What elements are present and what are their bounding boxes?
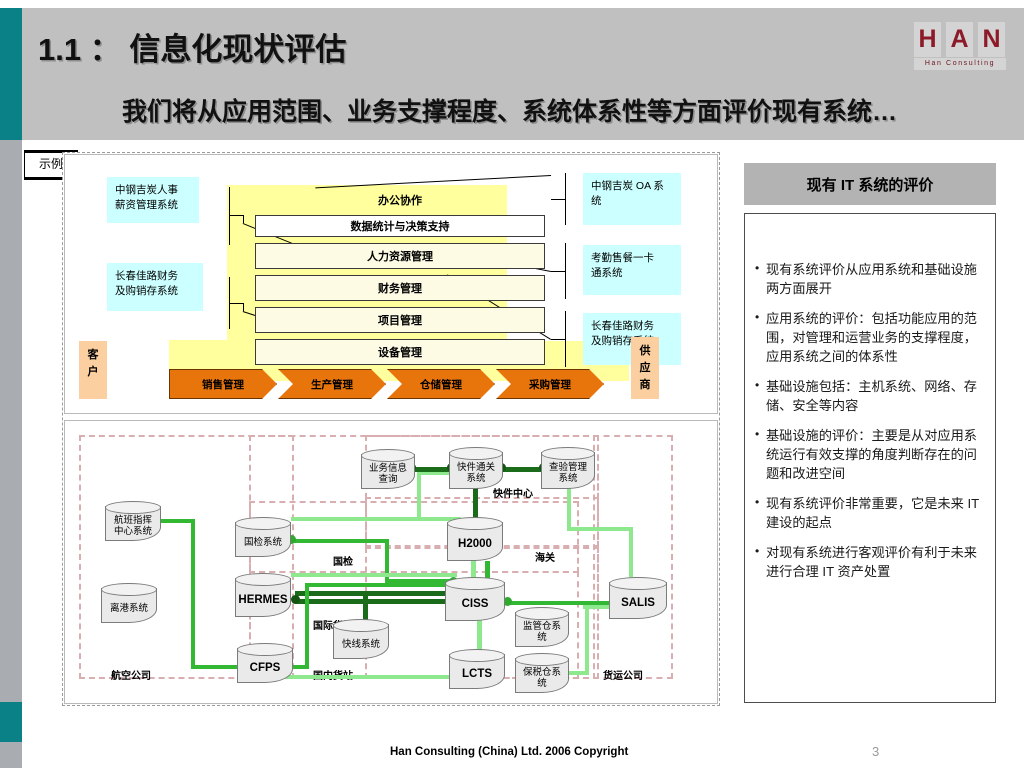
page-subtitle: 我们将从应用范围、业务支撑程度、系统体系性等方面评价现有系统…: [122, 92, 897, 128]
bottom-network-diagram: 航空公司 国检 国际货站 国内货站 快件中心 海关 物流园 货运公司: [64, 420, 718, 704]
left-rail-gray-lower: [0, 742, 22, 768]
node-kuaijian-tongguan: 快件通关 系统: [449, 447, 503, 489]
link-hermes-light: [291, 573, 457, 577]
leader-tick-left-2: [229, 303, 243, 304]
bullet-item: 现有系统评价从应用系统和基础设施两方面展开: [755, 260, 985, 298]
link-guojian-light-riser: [417, 473, 421, 521]
node-jianguan-cang: 监管仓系 统: [515, 607, 569, 647]
page-number: 3: [872, 744, 879, 759]
logo-tagline: Han Consulting: [914, 58, 1006, 70]
dot-hermes-right: [291, 595, 300, 604]
system-box-oa: 中钢吉炭 OA 系 统: [583, 173, 681, 225]
node-cfps: CFPS: [237, 643, 293, 683]
bullet-item: 基础设施的评价：主要是从对应用系统运行有效支撑的角度判断存在的问题和改进空间: [755, 426, 985, 483]
node-chayan-guanli: 查验管理 系统: [541, 447, 595, 489]
link-guojian-light: [291, 517, 461, 521]
system-box-attendance-card: 考勤售餐一卡 通系统: [583, 245, 681, 295]
link-cfps-riser: [305, 585, 309, 669]
link-salis-riser: [629, 527, 633, 577]
band-title-office-collab: 办公协作: [255, 193, 545, 209]
leader-tick-right-2: [551, 271, 566, 272]
node-hangban-command: 航班指挥 中心系统: [105, 501, 161, 541]
system-box-finance-inventory-left: 长春佳路财务 及购销存系统: [107, 263, 203, 311]
bullet-item: 应用系统的评价：包括功能应用的范围，对管理和运营业务的支撑程度，应用系统之间的体…: [755, 309, 985, 366]
function-box-project: 项目管理: [255, 307, 545, 333]
node-yewu-xinxi-chaxun: 业务信息 查询: [361, 449, 415, 489]
bullet-item: 基础设施包括：主机系统、网络、存储、安全等内容: [755, 377, 985, 415]
link-cfps-top: [305, 583, 453, 587]
process-chevron-sales: 销售管理: [169, 369, 277, 399]
slide-root: 1.1 ： 信息化现状评估 我们将从应用范围、业务支撑程度、系统体系性等方面评价…: [0, 0, 1024, 768]
function-box-hr: 人力资源管理: [255, 243, 545, 269]
link-chayan-horizontal: [567, 527, 633, 531]
link-cfps-horizontal: [191, 665, 241, 669]
link-hermes-ciss-dark: [295, 599, 455, 604]
leader-tick-right-3: [551, 339, 566, 340]
right-panel-body: 现有系统评价从应用系统和基础设施两方面展开 应用系统的评价：包括功能应用的范围，…: [744, 213, 996, 703]
endpoint-supplier: 供 应 商: [631, 337, 659, 399]
node-guojian: 国检系统: [235, 517, 291, 557]
function-box-data-stats: 数据统计与决策支持: [255, 215, 545, 237]
logo-letter-h: H: [914, 22, 941, 57]
page-title: 1.1 ： 信息化现状评估: [38, 24, 346, 69]
leader-vertical-left-1: [229, 187, 230, 245]
bullet-item: 现有系统评价非常重要，它是未来 IT 建设的起点: [755, 494, 985, 532]
endpoint-customer: 客 户: [79, 341, 107, 399]
top-architecture-diagram: 中钢吉炭人事 薪资管理系统 长春佳路财务 及购销存系统 中钢吉炭 OA 系 统 …: [64, 154, 718, 414]
zone-label-customs: 海关: [535, 549, 555, 564]
header-teal-accent: [0, 8, 22, 140]
node-baoshui-cang: 保税仓系 统: [515, 653, 569, 693]
bullet-item: 对现有系统进行客观评价有利于未来进行合理 IT 资产处置: [755, 543, 985, 581]
footer-copyright: Han Consulting (China) Ltd. 2006 Copyrig…: [390, 746, 628, 758]
han-consulting-logo: H A N Han Consulting: [914, 22, 1006, 70]
right-panel-heading: 现有 IT 系统的评价: [744, 163, 996, 205]
leader-elbow-1: [243, 215, 244, 223]
system-box-hr-payroll: 中钢吉炭人事 薪资管理系统: [107, 177, 199, 223]
leader-elbow-2: [243, 303, 244, 311]
process-chevron-production: 生产管理: [278, 369, 386, 399]
node-h2000: H2000: [447, 517, 503, 561]
node-salis: SALIS: [609, 577, 667, 619]
node-ciss: CISS: [445, 577, 505, 621]
leader-tick-left-1: [229, 215, 243, 216]
zone-label-airline: 航空公司: [111, 667, 151, 682]
node-kuaixian: 快线系统: [333, 619, 389, 659]
link-hermes-ciss-dark2: [295, 591, 455, 596]
process-chevron-warehouse: 仓储管理: [387, 369, 495, 399]
link-guojian-ciss-1: [291, 539, 387, 543]
link-chayan-riser: [567, 483, 571, 529]
leader-tick-right-1: [551, 199, 566, 200]
left-rail-gray-upper: [0, 140, 22, 702]
zone-freight-company: [593, 435, 673, 679]
link-lcts-salis-riser: [585, 607, 589, 673]
left-rail-teal-lower: [0, 702, 22, 742]
zone-label-inspection: 国检: [333, 553, 353, 568]
link-hangban-cfps-vertical: [191, 521, 195, 669]
node-lcts: LCTS: [449, 649, 505, 689]
zone-label-freight-company: 货运公司: [603, 667, 643, 682]
node-ligang: 离港系统: [101, 583, 157, 623]
node-hermes: HERMES: [235, 573, 291, 617]
logo-letter-n: N: [978, 22, 1005, 57]
function-box-equipment: 设备管理: [255, 339, 545, 365]
logo-letter-a: A: [946, 22, 973, 57]
process-chevron-purchasing: 采购管理: [496, 369, 604, 399]
function-box-finance: 财务管理: [255, 275, 545, 301]
